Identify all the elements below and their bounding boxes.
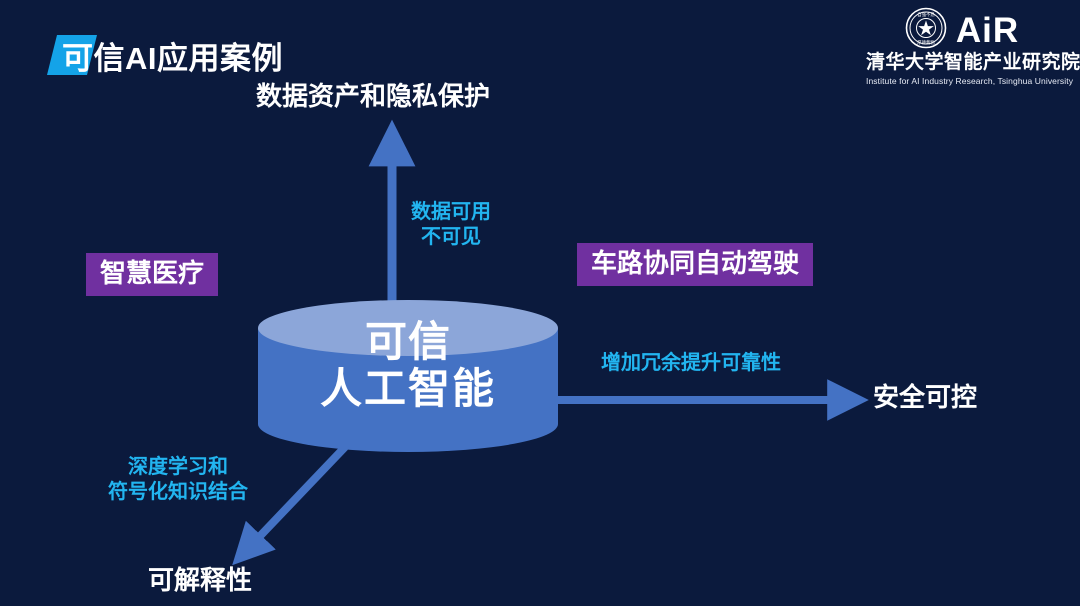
- node-interpretability: 可解释性: [148, 566, 252, 596]
- svg-text:厚德載物: 厚德載物: [917, 39, 935, 46]
- cylinder-label-line2: 人工智能: [258, 365, 558, 412]
- chip-smart-healthcare: 智慧医疗: [86, 253, 218, 296]
- edge-label-deep-learning-line2: 符号化知识结合: [80, 480, 276, 505]
- svg-text:自強不息: 自強不息: [917, 11, 935, 18]
- edge-label-data-usable-line1: 数据可用: [411, 200, 491, 225]
- edge-label-data-usable: 数据可用 不可见: [411, 200, 491, 250]
- air-logo: 自強不息 厚德載物 AiR 清华大学智能产业研究院 Institute for …: [866, 8, 1058, 86]
- institute-name-cn: 清华大学智能产业研究院: [866, 53, 1058, 73]
- tsinghua-university-emblem-icon: 自強不息 厚德載物: [905, 7, 947, 54]
- center-cylinder: 可信 人工智能: [258, 300, 558, 452]
- node-data-assets-privacy: 数据资产和隐私保护: [256, 82, 490, 112]
- title-text: 可信AI应用案例: [62, 33, 283, 78]
- node-safe-controllable: 安全可控: [873, 383, 977, 413]
- edge-label-redundancy-reliability: 增加冗余提升可靠性: [601, 351, 781, 376]
- institute-name-en: Institute for AI Industry Research, Tsin…: [866, 76, 1058, 86]
- slide-canvas: 可信AI应用案例 自強不息 厚德載物 AiR 清华大学智能产业研究院 Insti…: [0, 0, 1080, 606]
- chip-autonomous-driving: 车路协同自动驾驶: [577, 243, 813, 286]
- edge-label-deep-learning-symbolic: 深度学习和 符号化知识结合: [80, 455, 276, 505]
- edge-label-deep-learning-line1: 深度学习和: [80, 455, 276, 480]
- cylinder-label-line1: 可信: [258, 318, 558, 365]
- page-title: 可信AI应用案例: [52, 33, 283, 77]
- cylinder-label: 可信 人工智能: [258, 318, 558, 412]
- logo-lockup: 自強不息 厚德載物 AiR: [866, 8, 1058, 52]
- edge-label-data-usable-line2: 不可见: [411, 225, 491, 250]
- air-wordmark: AiR: [956, 13, 1019, 48]
